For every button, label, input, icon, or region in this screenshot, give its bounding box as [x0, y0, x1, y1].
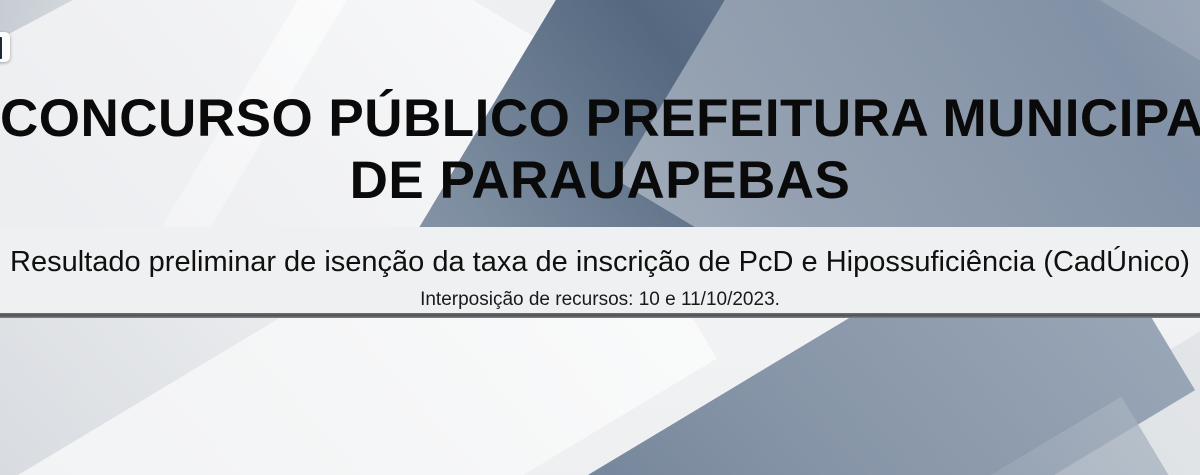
banner-title: CONCURSO PÚBLICO PREFEITURA MUNICIPAL DE…: [0, 88, 1200, 212]
concurso-banner: os CONCURSO PÚBLICO PREFEITURA MUNICIPAL…: [0, 0, 1200, 475]
title-line-2: DE PARAUAPEBAS: [0, 150, 1200, 212]
institution-logo: os: [0, 22, 24, 62]
title-line-1: CONCURSO PÚBLICO PREFEITURA MUNICIPAL: [0, 88, 1200, 150]
subtitle-text: Resultado preliminar de isenção da taxa …: [0, 227, 1200, 277]
logo-bar-shape: [0, 37, 2, 59]
subtitle-band: Resultado preliminar de isenção da taxa …: [0, 227, 1200, 313]
lower-decoration: [0, 318, 1200, 475]
appeal-period-text: Interposição de recursos: 10 e 11/10/202…: [0, 277, 1200, 312]
